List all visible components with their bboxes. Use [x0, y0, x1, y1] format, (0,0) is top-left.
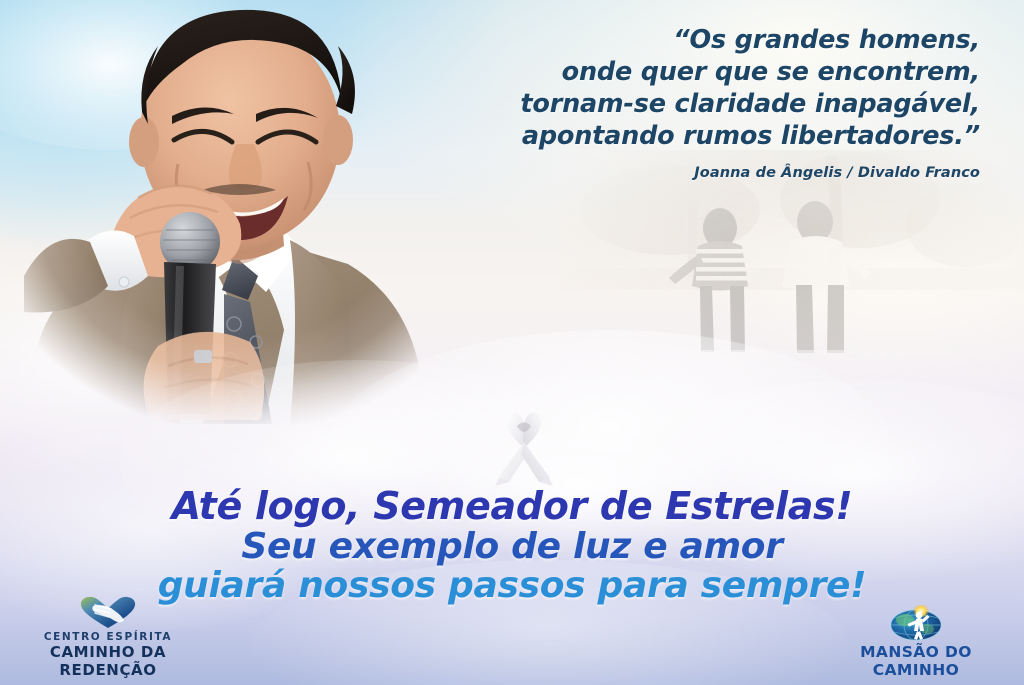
white-ribbon-icon [487, 408, 561, 488]
cloud-decoration [690, 170, 1024, 370]
quote-line-3: tornam-se claridade inapagável, [340, 88, 980, 120]
quote-block: “Os grandes homens, onde quer que se enc… [340, 24, 980, 181]
headline-line-2: Seu exemplo de luz e amor [0, 527, 1024, 566]
globe-figure-icon [889, 605, 943, 641]
quote-line-1: “Os grandes homens, [340, 24, 980, 56]
logo-left-main-line: CAMINHO DA REDENÇÃO [8, 643, 208, 679]
heart-hands-icon [77, 595, 139, 629]
logo-centro-espirita: CENTRO ESPÍRITA CAMINHO DA REDENÇÃO [8, 595, 208, 679]
logo-left-top-line: CENTRO ESPÍRITA [8, 631, 208, 643]
quote-line-4: apontando rumos libertadores.” [340, 120, 980, 152]
quote-line-2: onde quer que se encontrem, [340, 56, 980, 88]
headline-block: Até logo, Semeador de Estrelas! Seu exem… [0, 486, 1024, 606]
background-scene-two-men-walking [560, 150, 1024, 440]
logo-right-main-line: MANSÃO DO CAMINHO [816, 643, 1016, 679]
memorial-poster: “Os grandes homens, onde quer que se enc… [0, 0, 1024, 685]
logo-mansao-do-caminho: MANSÃO DO CAMINHO [816, 605, 1016, 679]
quote-attribution: Joanna de Ângelis / Divaldo Franco [340, 165, 980, 181]
headline-line-1: Até logo, Semeador de Estrelas! [0, 486, 1024, 527]
